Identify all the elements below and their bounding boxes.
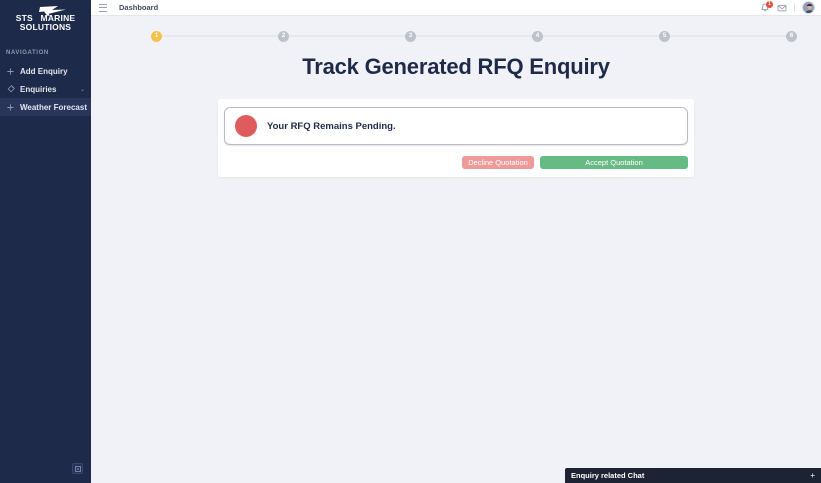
chevron-down-icon: ⌄ [80, 86, 85, 93]
page-breadcrumb-dashboard[interactable]: Dashboard [119, 3, 158, 12]
sidebar-item-add-enquiry[interactable]: Add Enquiry [0, 62, 91, 80]
sidebar-section-label: NAVIGATION [0, 36, 91, 62]
bell-icon[interactable]: 1 [760, 3, 770, 13]
tag-icon [6, 85, 15, 94]
rfq-progress-stepper: 1 2 3 4 5 6 [151, 28, 797, 44]
plus-icon [6, 103, 15, 112]
card-action-buttons: Decline Quotation Accept Quotation [224, 156, 688, 169]
collapse-sidebar-icon[interactable] [72, 463, 83, 474]
plus-icon [6, 67, 15, 76]
rfq-status-card: Your RFQ Remains Pending. Decline Quotat… [218, 99, 694, 177]
status-indicator-dot [235, 115, 257, 137]
app-root: STS MARINESOLUTIONS NAVIGATION Add Enqui… [0, 0, 821, 483]
main-content: 1 2 3 4 5 6 Track Generated RFQ Enquiry … [91, 16, 821, 483]
plus-icon[interactable]: + [810, 472, 815, 480]
header-divider [794, 3, 795, 12]
rfq-status-text: Your RFQ Remains Pending. [267, 121, 396, 132]
user-avatar[interactable] [802, 1, 815, 14]
sidebar-item-enquiries[interactable]: Enquiries ⌄ [0, 80, 91, 98]
sidebar-item-weather-forecast[interactable]: Weather Forecast [0, 98, 91, 116]
enquiry-chat-bar[interactable]: Enquiry related Chat + [565, 468, 821, 483]
page-title: Track Generated RFQ Enquiry [91, 54, 821, 80]
chat-bar-title: Enquiry related Chat [571, 471, 644, 480]
sidebar-item-label: Weather Forecast [20, 103, 87, 112]
stepper-step-4[interactable]: 4 [532, 31, 543, 42]
rfq-status-box: Your RFQ Remains Pending. [224, 107, 688, 145]
header-actions: 1 [760, 1, 815, 14]
sidebar-logo[interactable]: STS MARINESOLUTIONS [0, 0, 91, 36]
top-header: Dashboard 1 [91, 0, 821, 16]
stepper-step-2[interactable]: 2 [278, 31, 289, 42]
stepper-step-3[interactable]: 3 [405, 31, 416, 42]
accept-quotation-button[interactable]: Accept Quotation [540, 156, 688, 169]
stepper-step-6[interactable]: 6 [786, 31, 797, 42]
sidebar-item-label: Add Enquiry [20, 67, 85, 76]
logo-text: STS MARINESOLUTIONS [6, 14, 86, 33]
stepper-step-1[interactable]: 1 [151, 31, 162, 42]
hamburger-menu-icon[interactable] [99, 4, 107, 12]
notification-count-badge: 1 [766, 1, 773, 8]
sidebar: STS MARINESOLUTIONS NAVIGATION Add Enqui… [0, 0, 91, 483]
stepper-step-5[interactable]: 5 [659, 31, 670, 42]
decline-quotation-button[interactable]: Decline Quotation [462, 156, 534, 169]
envelope-icon[interactable] [777, 3, 787, 13]
stepper-track [159, 36, 789, 37]
sidebar-item-label: Enquiries [20, 85, 75, 94]
